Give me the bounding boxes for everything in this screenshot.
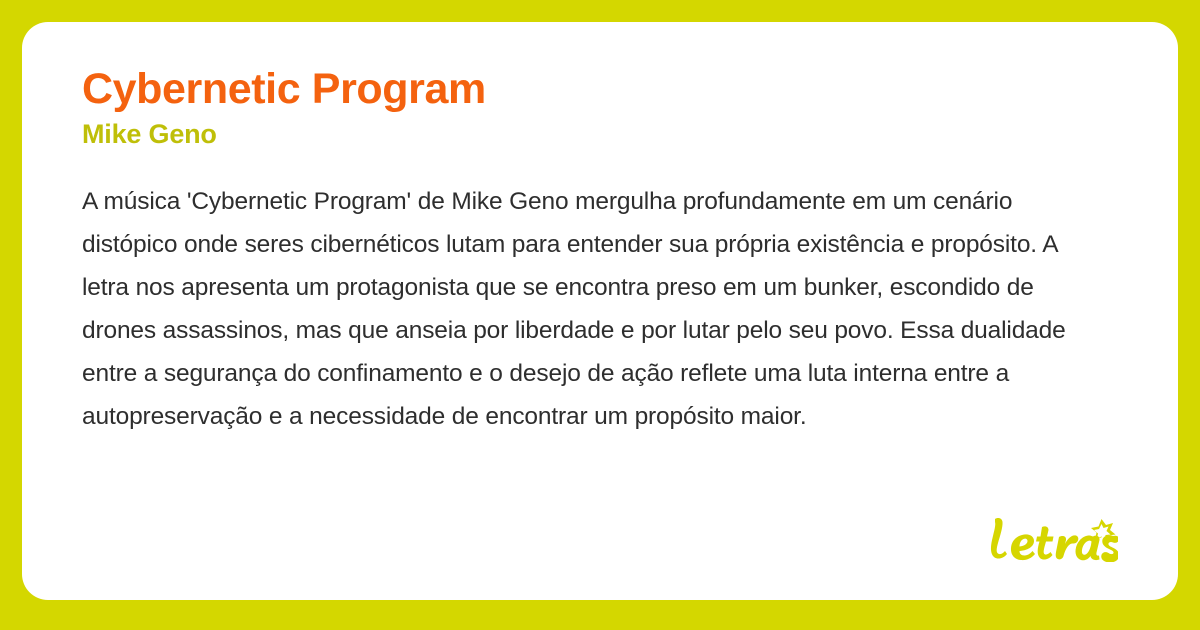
- card-footer: [82, 512, 1120, 570]
- artist-name: Mike Geno: [82, 120, 1120, 150]
- lyrics-summary-card: Cybernetic Program Mike Geno A música 'C…: [22, 22, 1178, 600]
- page-title: Cybernetic Program: [82, 66, 1120, 112]
- song-summary-text: A música 'Cybernetic Program' de Mike Ge…: [82, 180, 1104, 438]
- letras-logo: [980, 512, 1118, 562]
